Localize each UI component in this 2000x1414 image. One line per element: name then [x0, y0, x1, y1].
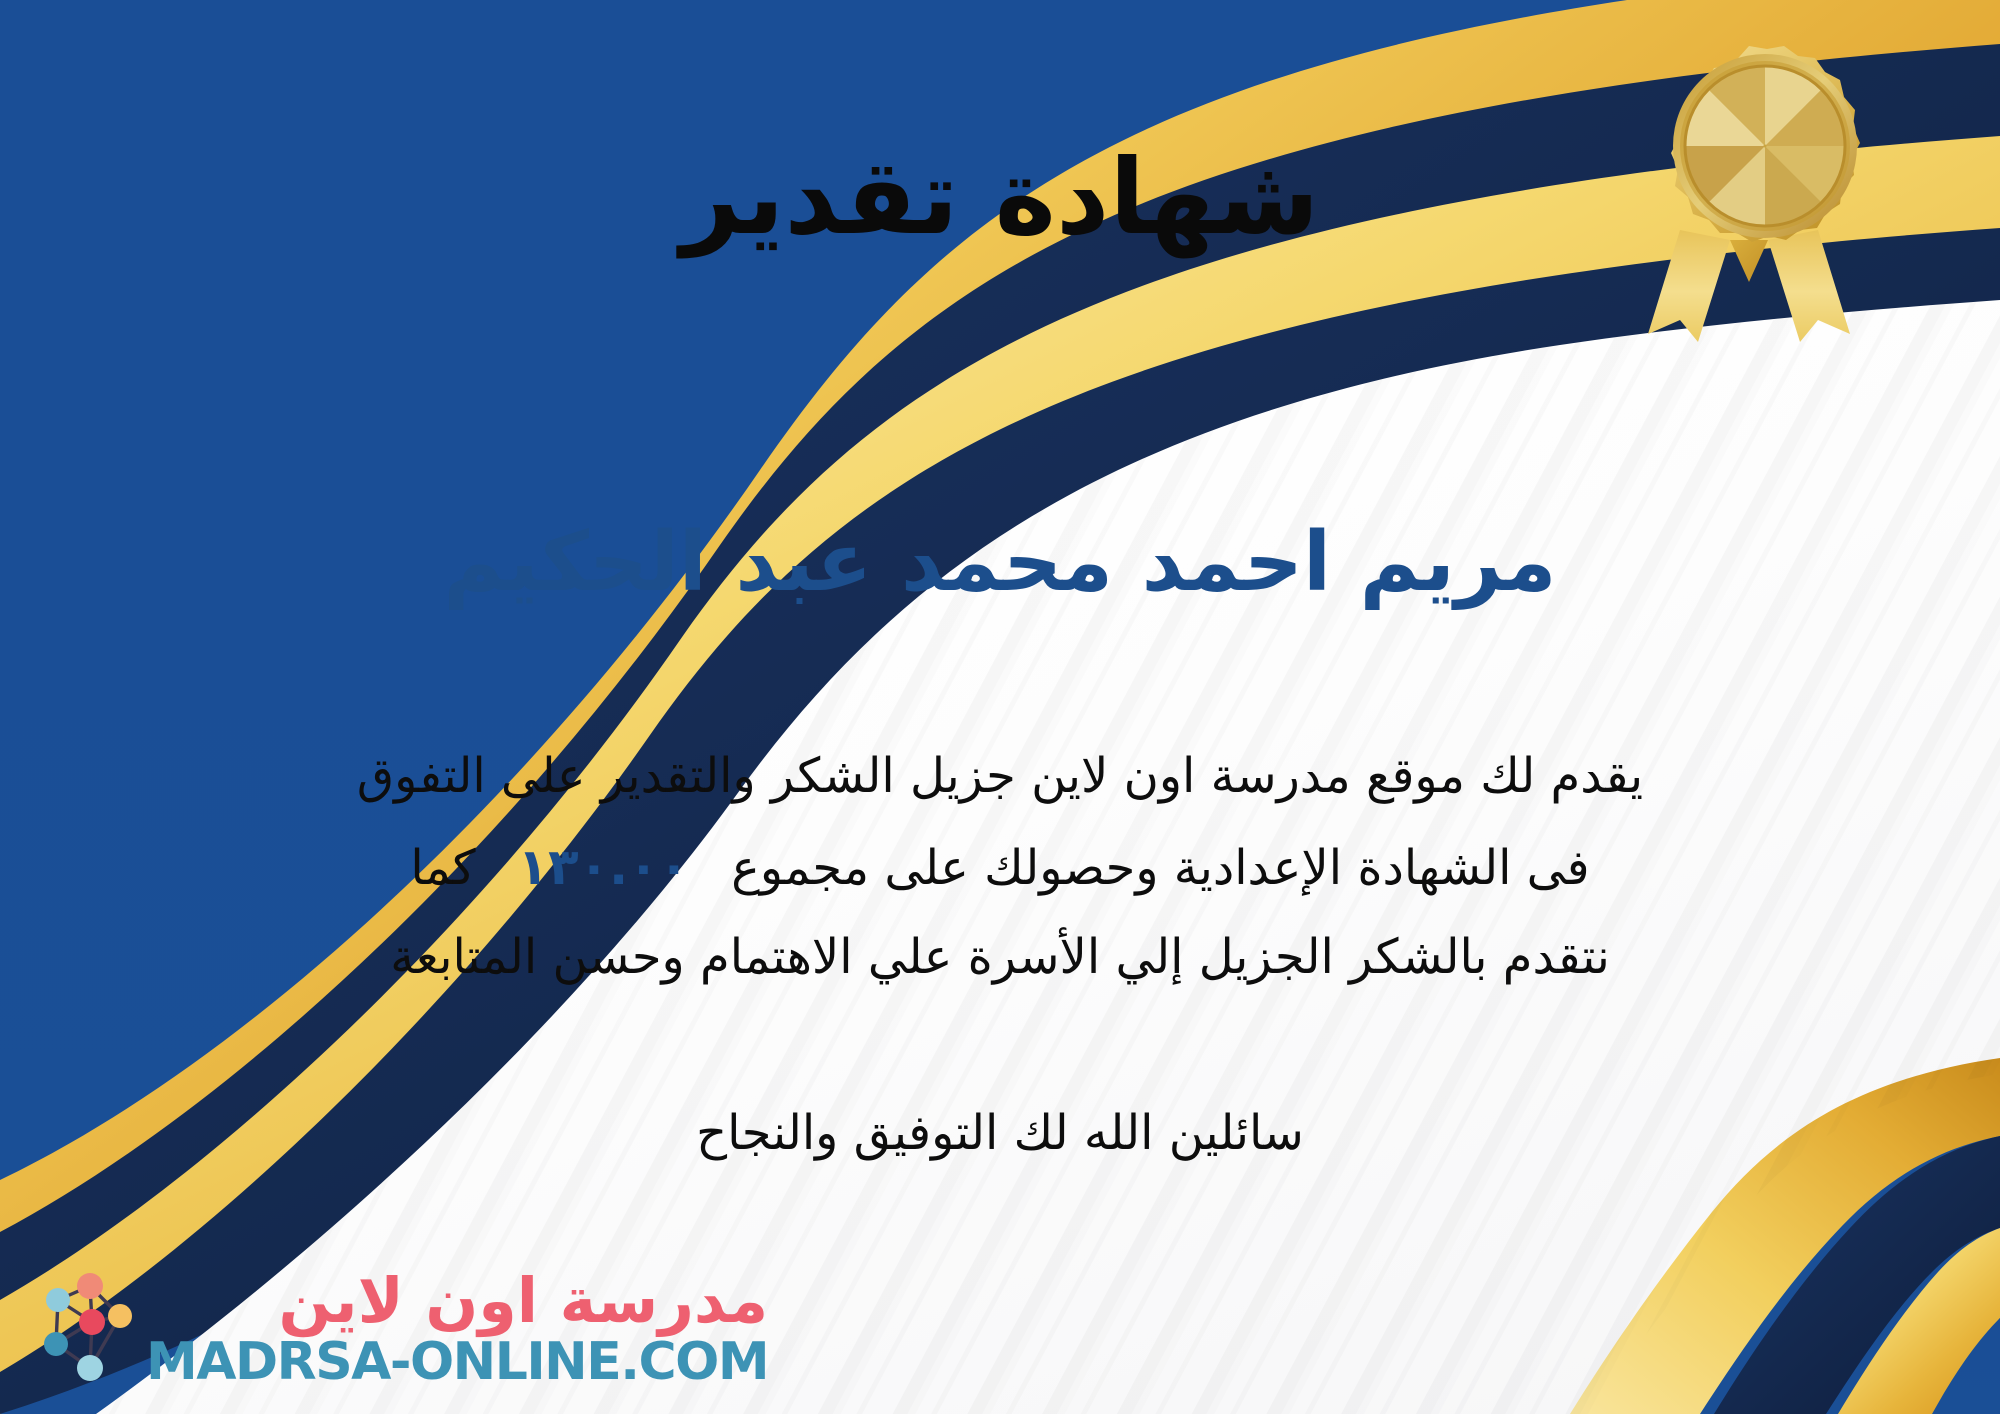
closing-line: سائلين الله لك التوفيق والنجاح: [0, 1095, 2000, 1172]
network-nodes-mark: [28, 1270, 136, 1388]
body-line-2: فى الشهادة الإعدادية وحصولك على مجموع١٣٠…: [48, 821, 1952, 914]
brand-website: MADRSA-ONLINE.COM: [146, 1336, 768, 1388]
recipient-name: مريم احمد محمد عبد الحكيم: [0, 512, 2000, 615]
medal-face: [1685, 66, 1845, 226]
body-line-2-start: فى الشهادة الإعدادية وحصولك على مجموع: [731, 840, 1589, 896]
brand-text-block: مدرسة اون لاين MADRSA-ONLINE.COM: [146, 1270, 768, 1388]
certificate-canvas: شهادة تقدير مريم احمد محمد عبد الحكيم يق…: [0, 0, 2000, 1414]
brand-logo[interactable]: مدرسة اون لاين MADRSA-ONLINE.COM: [28, 1270, 768, 1388]
body-line-3: نتقدم بالشكر الجزيل إلي الأسرة علي الاهت…: [48, 913, 1952, 1002]
medal-ribbon: [1648, 230, 1850, 342]
body-line-1: يقدم لك موقع مدرسة اون لاين جزيل الشكر و…: [48, 732, 1952, 821]
body-line-2-end: كما: [410, 840, 475, 896]
gold-award-medal: [1618, 34, 1880, 344]
grade-total-value: ١٣٠.٠٠: [476, 838, 732, 896]
brand-arabic-name: مدرسة اون لاين: [279, 1270, 769, 1332]
certificate-body: يقدم لك موقع مدرسة اون لاين جزيل الشكر و…: [48, 732, 1952, 1002]
